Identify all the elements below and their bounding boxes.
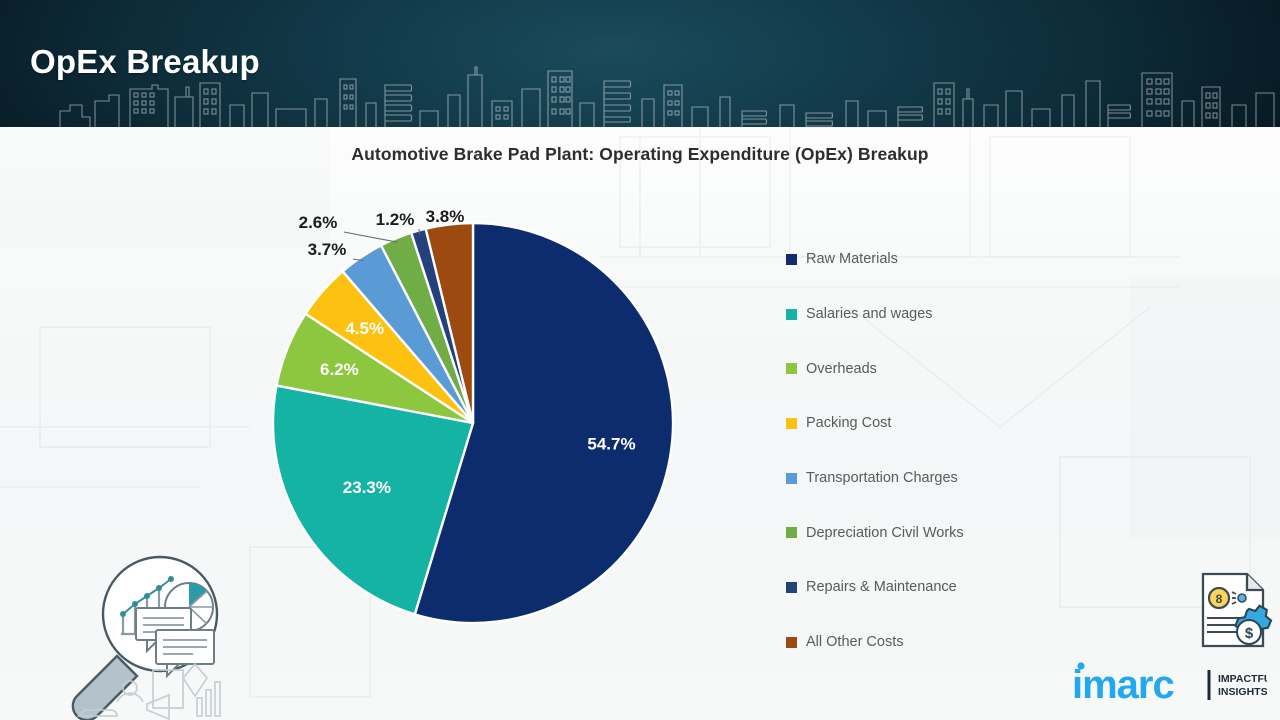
- pie-slice-label-outside: 3.7%: [308, 240, 347, 259]
- pie-chart-svg: 54.7%23.3%6.2%4.5%3.7%2.6%1.2%3.8%: [255, 200, 705, 650]
- legend-item[interactable]: Packing Cost: [786, 396, 1116, 451]
- svg-text:$: $: [1245, 625, 1254, 642]
- slide-root: OpEx Breakup Automotive Brake Pad P: [0, 0, 1280, 720]
- imarc-tagline-line1: IMPACTFUL: [1218, 673, 1267, 685]
- pie-slices: [273, 223, 673, 623]
- pie-slice-label-outside: 2.6%: [299, 213, 338, 232]
- imarc-logo-wordmark: imarc: [1072, 663, 1174, 706]
- pie-leader-line: [344, 232, 397, 242]
- imarc-logo: imarc IMPACTFUL INSIGHTS: [1072, 658, 1267, 706]
- imarc-logo-svg: imarc IMPACTFUL INSIGHTS: [1072, 658, 1267, 706]
- legend-item[interactable]: Depreciation Civil Works: [786, 505, 1116, 560]
- legend-label: Raw Materials: [806, 251, 898, 267]
- legend-swatch: [786, 527, 797, 538]
- legend-swatch: [786, 473, 797, 484]
- legend-item[interactable]: Repairs & Maintenance: [786, 560, 1116, 615]
- legend-label: All Other Costs: [806, 634, 904, 650]
- magnifier-analytics-icon: [55, 552, 230, 720]
- legend-label: Overheads: [806, 361, 877, 377]
- legend-swatch: [786, 418, 797, 429]
- chart-title: Automotive Brake Pad Plant: Operating Ex…: [0, 144, 1280, 165]
- pie-leader-line: [419, 229, 420, 234]
- legend-item[interactable]: All Other Costs: [786, 615, 1116, 670]
- pie-slice-label: 6.2%: [320, 360, 359, 379]
- pie-slice-label: 23.3%: [343, 478, 391, 497]
- legend-swatch: [786, 309, 797, 320]
- legend-item[interactable]: Raw Materials: [786, 232, 1116, 287]
- legend-item[interactable]: Transportation Charges: [786, 451, 1116, 506]
- legend-swatch: [786, 363, 797, 374]
- legend-swatch: [786, 254, 797, 265]
- pie-slice-label: 4.5%: [345, 319, 384, 338]
- pie-slice-label: 54.7%: [587, 435, 635, 454]
- legend-label: Depreciation Civil Works: [806, 525, 964, 541]
- legend-item[interactable]: Salaries and wages: [786, 287, 1116, 342]
- svg-text:8: 8: [1216, 592, 1223, 606]
- legend-label: Repairs & Maintenance: [806, 579, 957, 595]
- legend-label: Packing Cost: [806, 415, 891, 431]
- legend-label: Transportation Charges: [806, 470, 958, 486]
- page-title: OpEx Breakup: [30, 43, 260, 81]
- pie-slice-label-outside: 1.2%: [376, 210, 415, 229]
- pie-chart: 54.7%23.3%6.2%4.5%3.7%2.6%1.2%3.8%: [255, 200, 705, 650]
- imarc-tagline-line2: INSIGHTS: [1218, 686, 1267, 698]
- document-cost-gear-icon: 8 $: [1193, 568, 1277, 652]
- legend-swatch: [786, 637, 797, 648]
- pie-slice-label-outside: 3.8%: [426, 207, 465, 226]
- legend-label: Salaries and wages: [806, 306, 933, 322]
- legend-swatch: [786, 582, 797, 593]
- slide-header: OpEx Breakup: [0, 0, 1280, 127]
- legend-item[interactable]: Overheads: [786, 341, 1116, 396]
- chart-legend: Raw MaterialsSalaries and wagesOverheads…: [786, 232, 1116, 670]
